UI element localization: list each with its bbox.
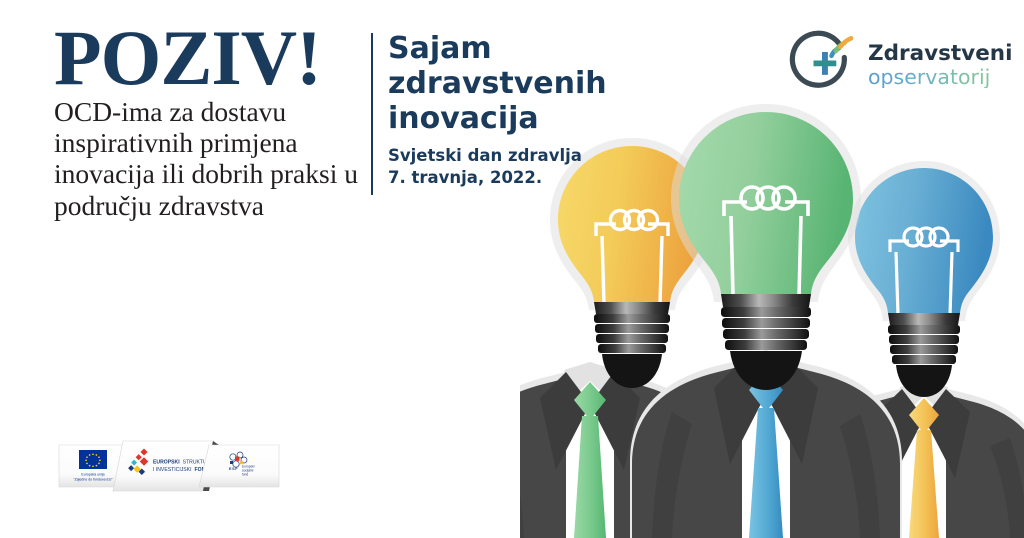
logo-word-secondary: opservatorij bbox=[868, 66, 1012, 89]
esif-line1-strong: EUROPSKI bbox=[153, 460, 180, 466]
event-day: Svjetski dan zdravlja bbox=[388, 145, 633, 166]
event-info-block: Sajam zdravstvenih inovacija Svjetski da… bbox=[388, 32, 633, 188]
bulb-head-green bbox=[671, 104, 861, 390]
zdravstveni-opservatorij-logo[interactable]: Zdravstveni opservatorij bbox=[786, 29, 1001, 101]
eu-caption-line2: "Zajedno do fondova EU" bbox=[73, 477, 113, 481]
call-description: OCD-ima za dostavu inspirativnih primjen… bbox=[54, 96, 366, 221]
eu-caption-line1: Europska unija bbox=[81, 473, 104, 477]
bulb-base-blue bbox=[888, 313, 960, 397]
ribbon-section-esf: ESF Europski socijalni fond bbox=[199, 445, 279, 487]
observatory-mark-icon bbox=[786, 29, 860, 101]
esf-line3: fond bbox=[242, 473, 248, 477]
logo-wordmark: Zdravstveni opservatorij bbox=[868, 43, 1012, 88]
page-title: POZIV! bbox=[54, 22, 364, 94]
logo-word-primary: Zdravstveni bbox=[868, 43, 1012, 66]
poster-canvas: POZIV! OCD-ima za dostavu inspirativnih … bbox=[0, 0, 1024, 538]
esf-vertical-label: ESF bbox=[229, 467, 238, 471]
left-text-block: POZIV! OCD-ima za dostavu inspirativnih … bbox=[54, 22, 364, 221]
event-date: 7. travnja, 2022. bbox=[388, 167, 633, 188]
event-title: Sajam zdravstvenih inovacija bbox=[388, 32, 633, 136]
bulb-head-blue bbox=[848, 161, 1000, 397]
eu-funding-ribbon: Europska unija "Zajedno do fondova EU" E… bbox=[57, 433, 285, 496]
esif-line2-rest: I INVESTICIJSKI bbox=[153, 467, 192, 473]
vertical-divider bbox=[371, 33, 373, 195]
